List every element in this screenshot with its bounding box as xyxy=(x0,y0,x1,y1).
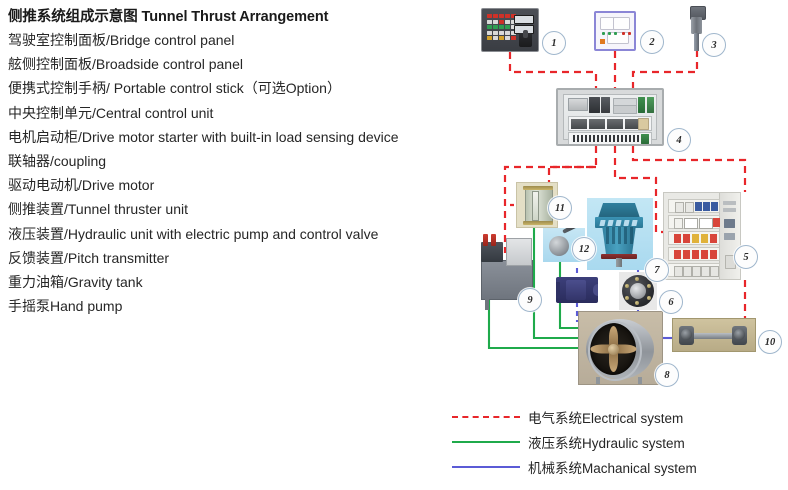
wire-3-to-4 xyxy=(633,50,697,88)
rail-module-5 xyxy=(638,118,649,130)
pitch-transmitter xyxy=(672,318,756,352)
badge-8: 8 xyxy=(655,363,679,387)
pump-body xyxy=(549,236,569,256)
sight-glass xyxy=(532,191,539,221)
relay-shelf-1 xyxy=(668,199,720,213)
indicator-green-1 xyxy=(602,32,605,35)
rail-module-2 xyxy=(589,119,605,129)
badge-6: 6 xyxy=(659,290,683,314)
wire-4-to-5 xyxy=(633,146,745,192)
mechanical-line-swatch xyxy=(452,466,520,468)
module-rail-lower xyxy=(568,132,652,146)
legend-mechanical-system: 机械系统Machanical system xyxy=(452,454,782,479)
badge-12: 12 xyxy=(572,237,596,261)
drive-motor xyxy=(587,198,653,270)
tank-cap-top xyxy=(523,186,553,190)
legend-hydraulic-system: 液压系统Hydraulic system xyxy=(452,429,782,454)
drive-motor-starter-cabinet xyxy=(663,192,741,280)
badge-5: 5 xyxy=(734,245,758,269)
central-control-unit xyxy=(556,88,664,146)
legend-electrical-system: 电气系统Electrical system xyxy=(452,404,782,429)
stick-body xyxy=(691,17,702,34)
relay-shelf-4 xyxy=(668,247,720,261)
tunnel-thruster-unit xyxy=(578,311,663,385)
cabinet-door-panel xyxy=(719,193,740,279)
broadside-control-panel xyxy=(594,11,636,51)
control-valve-2 xyxy=(491,234,496,246)
auxiliary-gearbox xyxy=(556,277,598,303)
transmitter-eye-left xyxy=(681,329,692,340)
power-supply-green-b xyxy=(647,97,654,113)
badge-3: 3 xyxy=(702,33,726,57)
electrical-line-swatch xyxy=(452,416,520,418)
badge-2: 2 xyxy=(640,30,664,54)
badge-7: 7 xyxy=(645,258,669,282)
hydraulic-line-swatch xyxy=(452,441,520,443)
relay-shelf-2 xyxy=(668,215,720,229)
panel-button-grid xyxy=(487,14,517,42)
hydraulic-system-label: 液压系统Hydraulic system xyxy=(528,432,685,452)
badge-11: 11 xyxy=(548,196,572,220)
hydraulic-control-box xyxy=(506,238,532,266)
indicator-red-2 xyxy=(628,32,631,35)
indicator-orange xyxy=(600,39,605,44)
indicator-green-3 xyxy=(614,32,617,35)
motor-terminal-box xyxy=(598,203,640,218)
system-type-legend: 电气系统Electrical system 液压系统Hydraulic syst… xyxy=(452,404,782,479)
badge-4: 4 xyxy=(667,128,691,152)
tunnel-rim xyxy=(588,321,642,381)
rail-module-1 xyxy=(571,119,587,129)
control-valve-1 xyxy=(483,234,488,246)
badge-10: 10 xyxy=(758,330,782,354)
plc-module-b xyxy=(601,97,610,113)
relay-shelf-5 xyxy=(668,263,720,277)
terminal-strip-mid xyxy=(613,105,637,114)
stick-tip xyxy=(694,33,699,51)
tunnel-thrust-diagram: 1 2 3 xyxy=(0,0,788,400)
lower-green-module xyxy=(641,134,649,144)
mechanical-system-label: 机械系统Machanical system xyxy=(528,457,697,477)
power-supply-green-a xyxy=(638,97,645,113)
module-rail-upper xyxy=(568,116,652,131)
pump-lever xyxy=(562,228,582,234)
tank-cap-bottom xyxy=(523,221,553,225)
plc-cpu xyxy=(589,97,600,113)
cabinet-interior xyxy=(563,94,657,140)
thruster-tunnel-housing xyxy=(586,319,654,379)
bridge-control-panel xyxy=(481,8,539,52)
badge-1: 1 xyxy=(542,31,566,55)
panel-display-upper xyxy=(514,15,534,24)
transmitter-eye-right xyxy=(734,329,745,340)
relay-shelf-3 xyxy=(668,231,720,245)
panel-joystick xyxy=(519,33,532,47)
indicator-red-1 xyxy=(622,32,625,35)
broadside-display-right xyxy=(613,17,630,30)
coupling-hub xyxy=(630,283,646,299)
motor-vent-band xyxy=(595,217,643,228)
unit-leg-left xyxy=(485,298,489,310)
motor-shaft xyxy=(616,258,622,267)
electrical-system-label: 电气系统Electrical system xyxy=(528,407,683,427)
wire-1-to-4 xyxy=(510,52,596,88)
badge-9: 9 xyxy=(518,288,542,312)
plc-module-a xyxy=(568,98,588,111)
motor-housing xyxy=(600,227,638,255)
rail-module-3 xyxy=(607,119,623,129)
indicator-green-2 xyxy=(608,32,611,35)
